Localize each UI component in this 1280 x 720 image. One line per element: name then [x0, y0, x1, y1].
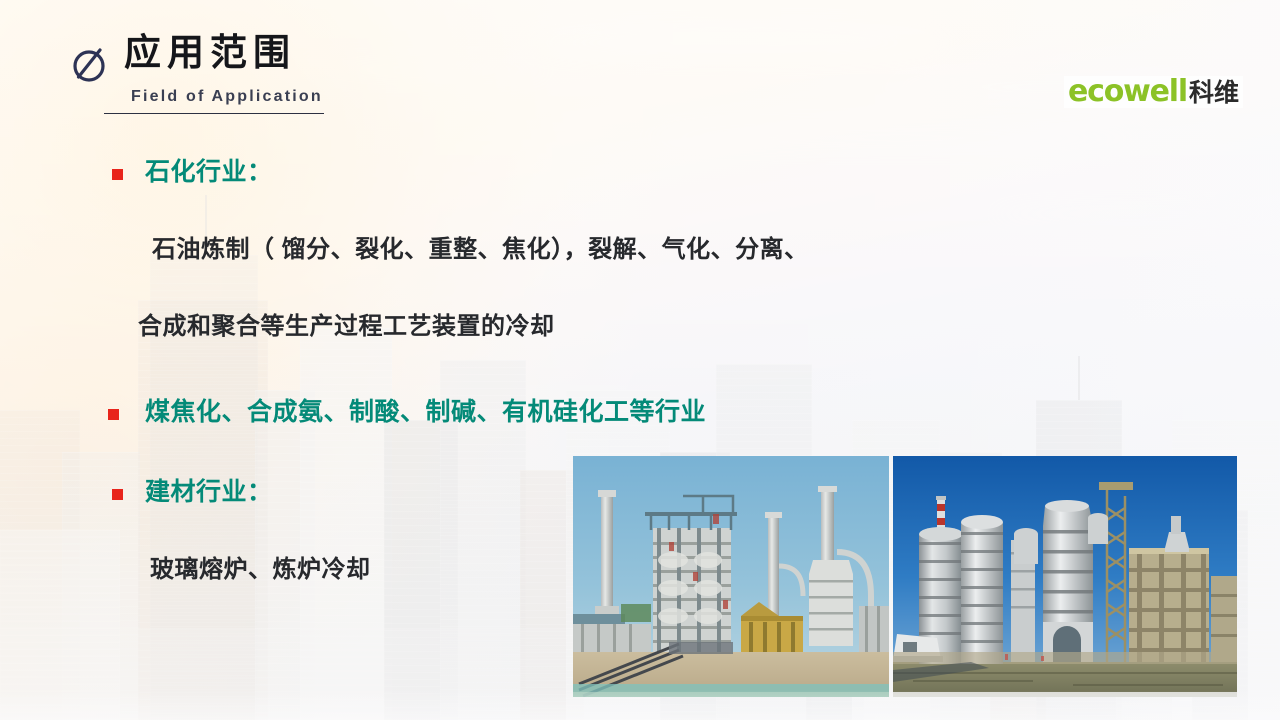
- square-bullet-icon: [112, 169, 123, 180]
- body-line-petrochemical-1: 石油炼制（ 馏分、裂化、重整、焦化），裂解、气化、分离、: [152, 238, 809, 262]
- bullet-item-petrochemical: 石化行业：: [112, 160, 273, 185]
- square-bullet-icon: [108, 409, 119, 420]
- bullet-heading-text: 石化行业：: [145, 160, 273, 185]
- bullet-heading-text: 建材行业：: [145, 480, 273, 505]
- body-line-petrochemical-2: 合成和聚合等生产过程工艺装置的冷却: [138, 315, 555, 339]
- body-text: 玻璃熔炉、炼炉冷却: [150, 558, 371, 582]
- oil-refinery-photo: [573, 456, 889, 697]
- body-text: 石油炼制（ 馏分、裂化、重整、焦化），裂解、气化、分离、: [152, 238, 809, 262]
- slide-field-of-application: 应用范围 Field of Application ecowell 科维 石化行…: [0, 0, 1280, 720]
- bullet-item-coal-chemical: 煤焦化、合成氨、制酸、制碱、有机硅化工等行业: [108, 400, 706, 425]
- petrochemical-plant-photo: [893, 456, 1237, 697]
- body-text: 合成和聚合等生产过程工艺装置的冷却: [138, 315, 555, 339]
- bullet-heading-text: 煤焦化、合成氨、制酸、制碱、有机硅化工等行业: [145, 400, 706, 425]
- bullet-item-building-materials: 建材行业：: [112, 480, 273, 505]
- body-line-building-materials-1: 玻璃熔炉、炼炉冷却: [150, 558, 371, 582]
- square-bullet-icon: [112, 489, 123, 500]
